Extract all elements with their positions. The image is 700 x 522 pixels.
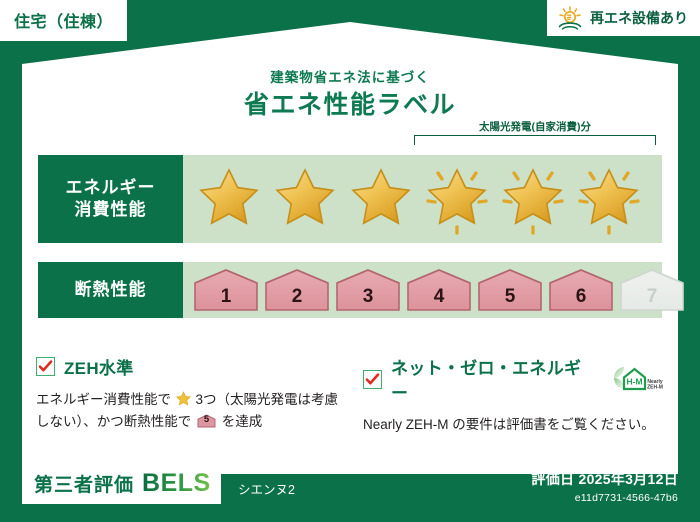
- insulation-grade-7: 7: [618, 268, 686, 312]
- insulation-row-label-line1: 断熱性能: [75, 279, 147, 301]
- feature-net-zero-energy: ネット・ゼロ・エネルギー H-M Nearly: [363, 354, 666, 436]
- bels-en-label: BELS: [142, 469, 211, 498]
- evaluation-uid: e11d7731-4566-47b6: [531, 492, 678, 504]
- feature-zeh-text-1: エネルギー消費性能で: [36, 392, 171, 407]
- star-6: [571, 161, 647, 237]
- energy-row-body: 太陽光発電(自家消費)分: [183, 155, 662, 243]
- star-rating: [183, 155, 662, 243]
- renewable-badge-label: 再エネ設備あり: [590, 8, 688, 28]
- feature-zeh-text-3: を達成: [222, 414, 263, 429]
- feature-zeh-title: ZEH水準: [64, 354, 134, 379]
- solar-annotation-bracket: [414, 135, 656, 145]
- insulation-grade-2: 2: [263, 268, 331, 312]
- feature-nze-title: ネット・ゼロ・エネルギー: [391, 354, 597, 404]
- feature-zeh-standard: ZEH水準 エネルギー消費性能で 3つ（太陽光発電は考慮しない）、かつ断熱性能で…: [36, 354, 339, 436]
- evaluation-date: 評価日 2025年3月12日: [531, 469, 678, 489]
- insulation-grade-3: 3: [334, 268, 402, 312]
- insulation-row-label: 断熱性能: [38, 262, 183, 318]
- bels-jp-label: 第三者評価: [34, 470, 134, 497]
- energy-row-label-line2: 消費性能: [75, 199, 147, 221]
- insulation-grade-value: 4: [405, 286, 473, 308]
- feature-zeh-body: エネルギー消費性能で 3つ（太陽光発電は考慮しない）、かつ断熱性能で 5 を達成: [36, 389, 339, 433]
- insulation-grade-1: 1: [192, 268, 260, 312]
- inline-grade-value: 5: [197, 412, 216, 427]
- page-title: 省エネ性能ラベル: [0, 85, 700, 121]
- feature-nze-body: Nearly ZEH-M の要件は評価書をご覧ください。: [363, 414, 666, 436]
- feature-section: ZEH水準 エネルギー消費性能で 3つ（太陽光発電は考慮しない）、かつ断熱性能で…: [36, 354, 666, 436]
- building-name: シエンヌ2: [238, 479, 295, 498]
- star-icon: [176, 391, 191, 406]
- star-5: [495, 161, 571, 237]
- insulation-grade-value: 1: [192, 286, 260, 308]
- insulation-performance-row: 断熱性能 1234567: [38, 262, 662, 318]
- feature-zeh-header: ZEH水準: [36, 354, 339, 379]
- feature-nze-header: ネット・ゼロ・エネルギー H-M Nearly: [363, 354, 666, 404]
- insulation-grade-value: 5: [476, 286, 544, 308]
- star-2: [267, 161, 343, 237]
- label-canvas: 住宅（住棟） 再エネ設備あり 建築物省エネ法に基づく 省エネ性能ラベル: [0, 0, 700, 522]
- insulation-grade-6: 6: [547, 268, 615, 312]
- sub-title: 建築物省エネ法に基づく: [0, 66, 700, 86]
- sun-renewable-icon: [557, 6, 583, 30]
- energy-row-label: エネルギー 消費性能: [38, 155, 183, 243]
- solar-annotation: 太陽光発電(自家消費)分: [411, 119, 659, 145]
- svg-text:ZEH-M: ZEH-M: [647, 385, 663, 391]
- category-tag: 住宅（住棟）: [0, 0, 127, 41]
- star-3: [343, 161, 419, 237]
- insulation-grade-4: 4: [405, 268, 473, 312]
- evaluation-info: 評価日 2025年3月12日 e11d7731-4566-47b6: [531, 469, 678, 504]
- insulation-grade-value: 3: [334, 286, 402, 308]
- solar-annotation-label: 太陽光発電(自家消費)分: [411, 119, 659, 134]
- energy-performance-row: エネルギー 消費性能 太陽光発電(自家消費)分: [38, 155, 662, 243]
- checkbox-checked-icon: [36, 357, 55, 376]
- nearly-zeh-m-logo: H-M Nearly ZEH-M: [610, 365, 666, 393]
- renewable-energy-badge: 再エネ設備あり: [547, 0, 700, 36]
- insulation-row-body: 1234567: [183, 262, 662, 318]
- svg-text:H-M: H-M: [626, 377, 642, 387]
- insulation-grade-value: 7: [618, 286, 686, 308]
- checkbox-checked-icon: [363, 370, 382, 389]
- insulation-grade-value: 6: [547, 286, 615, 308]
- star-1: [191, 161, 267, 237]
- category-tag-label: 住宅（住棟）: [14, 14, 113, 31]
- inline-grade-badge: 5: [197, 414, 216, 428]
- star-4: [419, 161, 495, 237]
- energy-row-label-line1: エネルギー: [66, 177, 156, 199]
- insulation-grade-scale: 1234567: [183, 262, 662, 318]
- insulation-grade-value: 2: [263, 286, 331, 308]
- bels-certification-mark: 第三者評価 BELS: [22, 464, 221, 504]
- insulation-grade-5: 5: [476, 268, 544, 312]
